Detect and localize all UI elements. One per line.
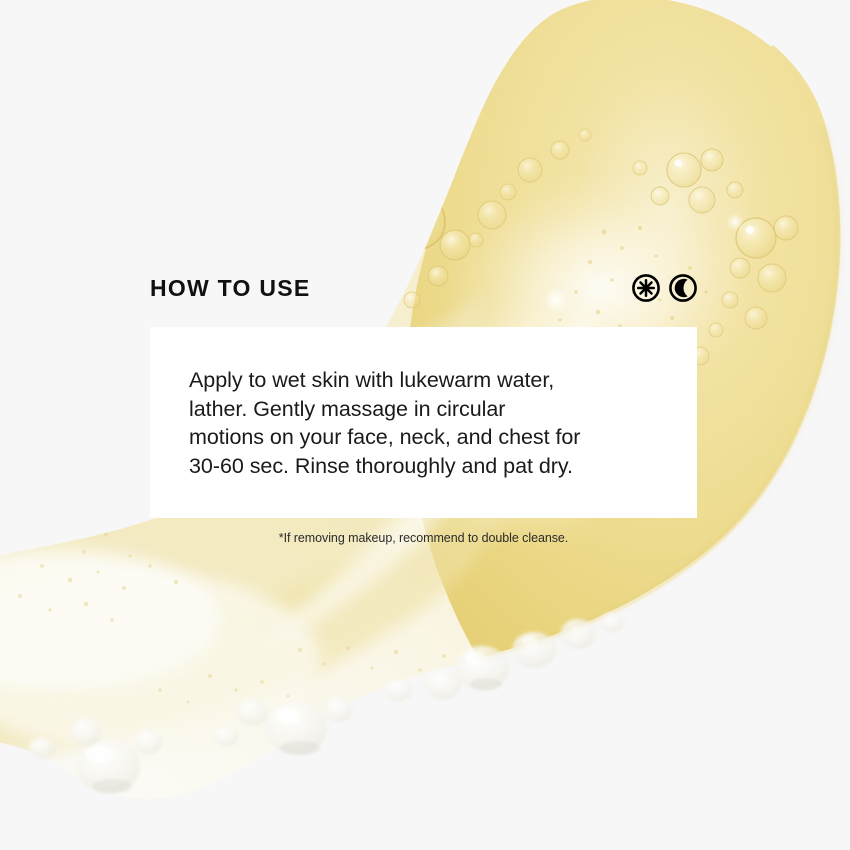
footnote-text: *If removing makeup, recommend to double… bbox=[150, 530, 697, 547]
sun-icon bbox=[631, 273, 661, 303]
page-title: HOW TO USE bbox=[150, 277, 310, 300]
instruction-line: 30-60 sec. Rinse thoroughly and pat dry. bbox=[189, 452, 669, 481]
instruction-line: Apply to wet skin with lukewarm water, bbox=[189, 366, 669, 395]
section-header: HOW TO USE bbox=[150, 268, 698, 308]
moon-icon bbox=[668, 273, 698, 303]
instruction-line: motions on your face, neck, and chest fo… bbox=[189, 423, 669, 452]
instructions-card: Apply to wet skin with lukewarm water, l… bbox=[150, 327, 697, 518]
usage-time-icons bbox=[631, 273, 698, 303]
instructions-text: Apply to wet skin with lukewarm water, l… bbox=[189, 366, 669, 480]
instruction-line: lather. Gently massage in circular bbox=[189, 395, 669, 424]
content-overlay: HOW TO USE bbox=[0, 0, 850, 850]
how-to-use-panel: HOW TO USE bbox=[0, 0, 850, 850]
